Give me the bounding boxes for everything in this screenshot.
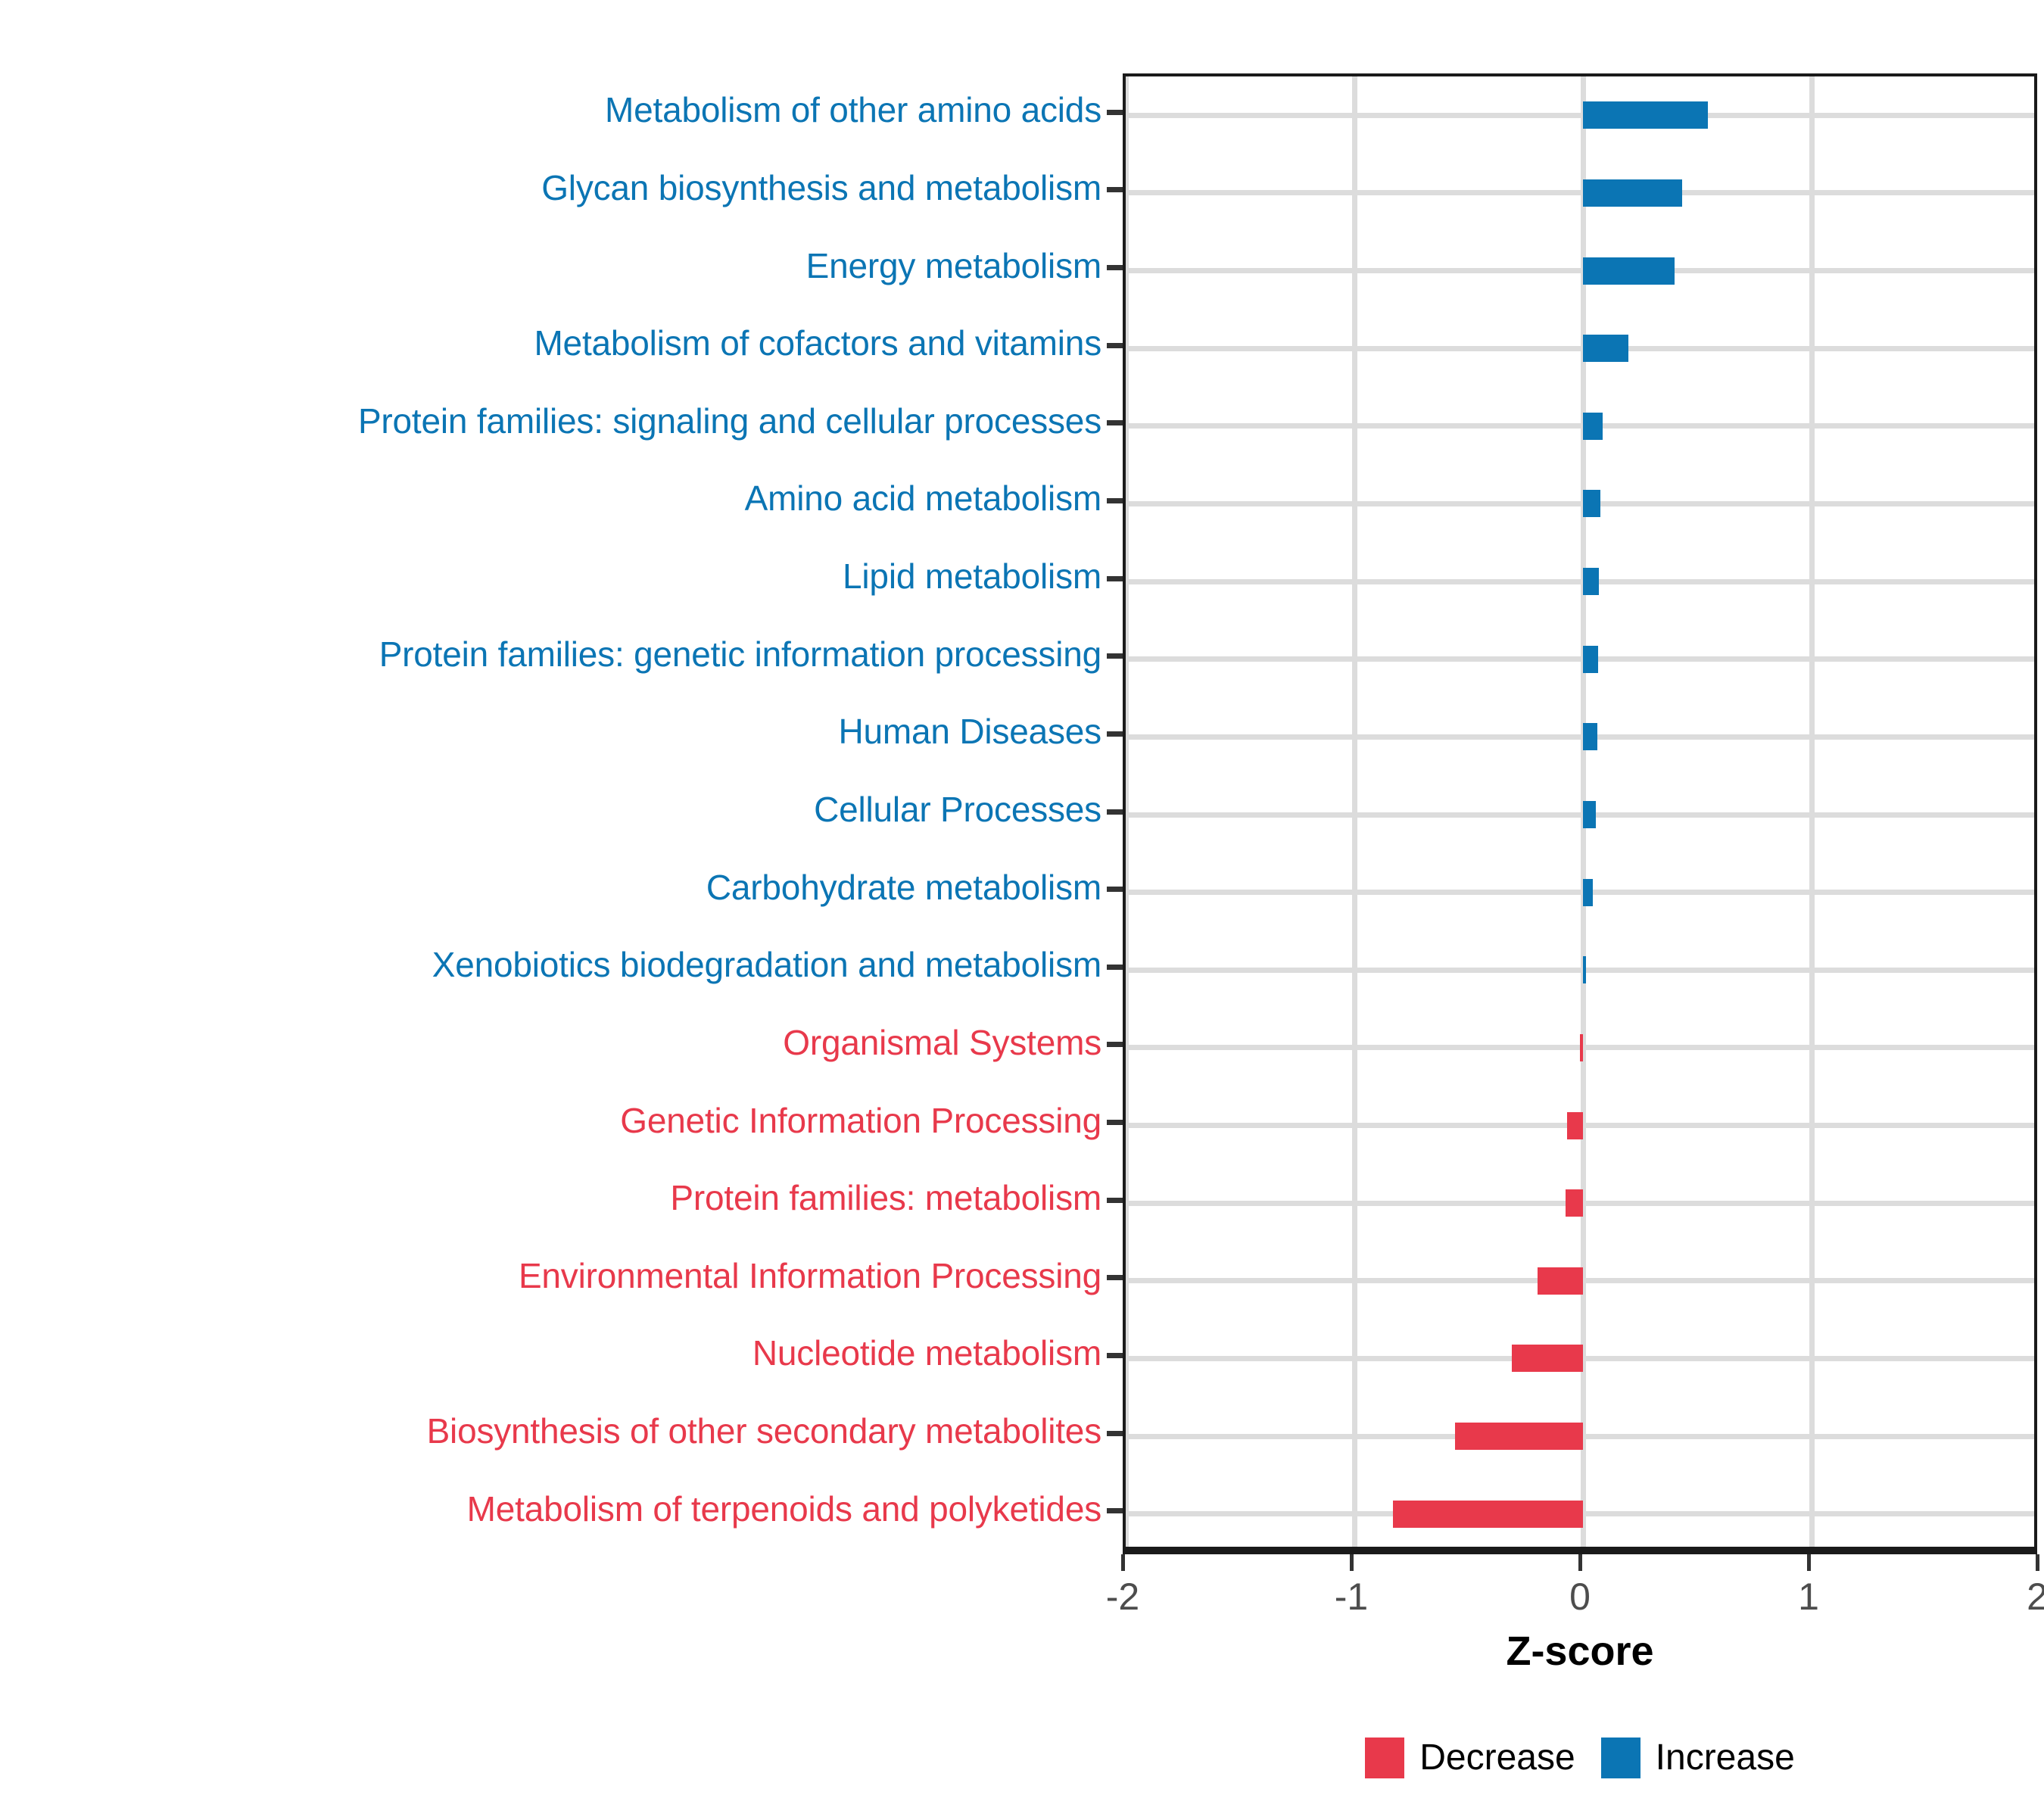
y-axis-tick (1107, 1198, 1123, 1203)
gridline-horizontal (1126, 968, 2034, 973)
y-axis-label: Protein families: signaling and cellular… (11, 404, 1101, 438)
x-axis-tick (1121, 1554, 1125, 1571)
y-axis-label: Metabolism of cofactors and vitamins (11, 326, 1101, 360)
gridline-horizontal (1126, 579, 2034, 584)
bar (1583, 335, 1628, 362)
bar (1583, 490, 1600, 517)
y-axis-tick (1107, 887, 1123, 892)
gridline-horizontal (1126, 268, 2034, 273)
legend-item[interactable]: Increase (1601, 1738, 1795, 1778)
bar (1538, 1267, 1583, 1295)
zscore-bar-chart: Metabolism of other amino acidsGlycan bi… (0, 0, 2044, 1817)
y-axis-label: Protein families: genetic information pr… (11, 637, 1101, 672)
y-axis-tick (1107, 809, 1123, 815)
bar (1583, 568, 1599, 595)
y-axis-tick (1107, 187, 1123, 192)
x-axis-tick-label: -2 (1070, 1577, 1176, 1616)
y-axis-labels: Metabolism of other amino acidsGlycan bi… (0, 73, 1101, 1550)
bar (1583, 413, 1603, 440)
x-axis-tick-label: -1 (1298, 1577, 1404, 1616)
y-axis-label: Energy metabolism (11, 248, 1101, 283)
x-axis-tick-label: 1 (1756, 1577, 1862, 1616)
legend-label: Increase (1656, 1739, 1795, 1777)
y-axis-label: Metabolism of terpenoids and polyketides (11, 1491, 1101, 1526)
y-axis-label: Metabolism of other amino acids (11, 92, 1101, 127)
bar (1583, 723, 1597, 750)
bar (1580, 1034, 1583, 1061)
legend-label: Decrease (1419, 1739, 1575, 1777)
y-axis-label: Cellular Processes (11, 792, 1101, 827)
legend-swatch (1365, 1738, 1404, 1778)
y-axis-label: Lipid metabolism (11, 559, 1101, 594)
gridline-horizontal (1126, 423, 2034, 429)
y-axis-tick (1107, 343, 1123, 348)
bar (1393, 1501, 1583, 1528)
y-axis-label: Xenobiotics biodegradation and metabolis… (11, 947, 1101, 982)
x-axis-tick (2036, 1554, 2039, 1571)
bar (1583, 879, 1593, 906)
y-axis-tick (1107, 1120, 1123, 1125)
legend-item[interactable]: Decrease (1365, 1738, 1575, 1778)
x-axis-tick-label: 0 (1527, 1577, 1633, 1616)
y-axis-label: Protein families: metabolism (11, 1180, 1101, 1215)
gridline-horizontal (1126, 656, 2034, 662)
y-axis-tick (1107, 965, 1123, 970)
y-axis-tick (1107, 265, 1123, 270)
gridline-horizontal (1126, 812, 2034, 818)
y-axis-tick (1107, 110, 1123, 115)
y-axis-tick (1107, 498, 1123, 503)
y-axis-label: Organismal Systems (11, 1025, 1101, 1060)
bar (1583, 101, 1708, 129)
x-axis-title: Z-score (1123, 1628, 2037, 1675)
plot-area (1126, 76, 2034, 1547)
bar (1583, 179, 1682, 207)
bar (1583, 956, 1586, 983)
y-axis-label: Human Diseases (11, 714, 1101, 749)
plot-panel (1123, 73, 2037, 1550)
bar (1583, 646, 1598, 673)
gridline-horizontal (1126, 734, 2034, 740)
y-axis-tick (1107, 653, 1123, 659)
x-axis-tick (1578, 1554, 1582, 1571)
bar (1567, 1112, 1583, 1139)
y-axis-tick (1107, 576, 1123, 581)
gridline-horizontal (1126, 113, 2034, 118)
y-axis-tick (1107, 1431, 1123, 1436)
y-axis-label: Biosynthesis of other secondary metaboli… (11, 1413, 1101, 1448)
bar (1512, 1345, 1583, 1372)
y-axis-label: Carbohydrate metabolism (11, 870, 1101, 905)
y-axis-label: Glycan biosynthesis and metabolism (11, 170, 1101, 205)
gridline-horizontal (1126, 190, 2034, 195)
y-axis-label: Genetic Information Processing (11, 1103, 1101, 1138)
x-axis-tick (1350, 1554, 1354, 1571)
bar (1583, 257, 1675, 285)
y-axis-tick (1107, 420, 1123, 425)
gridline-horizontal (1126, 346, 2034, 351)
y-axis-tick (1107, 1042, 1123, 1047)
bar (1583, 801, 1596, 828)
y-axis-tick (1107, 731, 1123, 737)
y-axis-label: Environmental Information Processing (11, 1258, 1101, 1293)
y-axis-tick (1107, 1353, 1123, 1358)
bar (1455, 1423, 1583, 1450)
legend: DecreaseIncrease (1123, 1738, 2037, 1778)
y-axis-tick (1107, 1275, 1123, 1280)
y-axis-label: Nucleotide metabolism (11, 1335, 1101, 1370)
bar (1566, 1189, 1583, 1217)
gridline-horizontal (1126, 501, 2034, 506)
x-axis-tick (1807, 1554, 1811, 1571)
gridline-horizontal (1126, 890, 2034, 895)
legend-swatch (1601, 1738, 1640, 1778)
y-axis-label: Amino acid metabolism (11, 481, 1101, 516)
x-axis-tick-label: 2 (1984, 1577, 2044, 1616)
y-axis-tick (1107, 1508, 1123, 1513)
